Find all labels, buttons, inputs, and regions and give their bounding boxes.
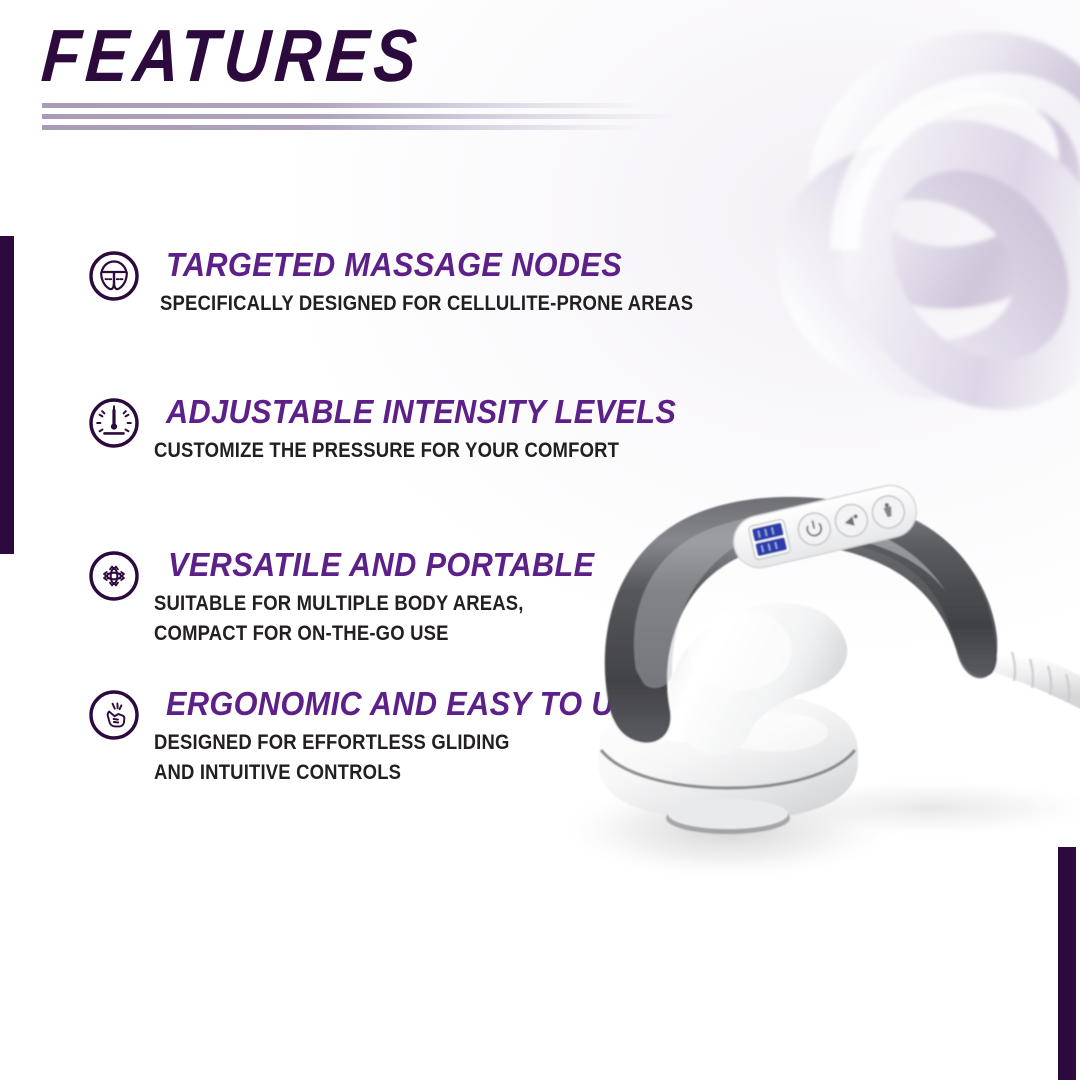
feature-text: ERGONOMIC AND EASY TO USE DESIGNED FOR E…	[160, 685, 692, 788]
feature-item-targeted-massage-nodes: TARGETED MASSAGE NODES SPECIFICALLY DESI…	[88, 246, 728, 319]
features-list: TARGETED MASSAGE NODES SPECIFICALLY DESI…	[88, 246, 728, 788]
features-poster: FEATURES	[0, 0, 1080, 1080]
hand-gesture-icon	[88, 689, 140, 741]
feature-item-ergonomic-and-easy-to-use: ERGONOMIC AND EASY TO USE DESIGNED FOR E…	[88, 685, 728, 788]
page-title: FEATURES	[39, 16, 905, 96]
feature-text: ADJUSTABLE INTENSITY LEVELS CUSTOMIZE TH…	[160, 393, 715, 466]
rule-line-2	[42, 114, 678, 119]
left-accent-bar	[0, 236, 14, 554]
led-display	[752, 522, 784, 541]
feature-heading: VERSATILE AND PORTABLE	[168, 546, 595, 584]
feature-subtitle: SPECIFICALLY DESIGNED FOR CELLULITE-PRON…	[160, 289, 693, 319]
rule-line-1	[42, 103, 642, 108]
feature-heading: ADJUSTABLE INTENSITY LEVELS	[166, 393, 676, 431]
feature-subtitle: SUITABLE FOR MULTIPLE BODY AREAS, COMPAC…	[154, 589, 570, 649]
right-accent-bar	[1058, 847, 1076, 1080]
feature-subtitle: DESIGNED FOR EFFORTLESS GLIDING AND INTU…	[154, 728, 628, 788]
feature-subtitle-line: SUITABLE FOR MULTIPLE BODY AREAS,	[154, 589, 570, 619]
feature-item-adjustable-intensity-levels: ADJUSTABLE INTENSITY LEVELS CUSTOMIZE TH…	[88, 393, 728, 466]
body-target-icon	[88, 250, 140, 302]
multi-direction-arrows-icon	[88, 550, 140, 602]
feature-text: TARGETED MASSAGE NODES SPECIFICALLY DESI…	[160, 246, 766, 319]
rule-line-3	[42, 125, 642, 130]
feature-heading: ERGONOMIC AND EASY TO USE	[166, 685, 656, 723]
feature-subtitle-line: SPECIFICALLY DESIGNED FOR CELLULITE-PRON…	[160, 289, 693, 319]
title-underline-rules	[42, 103, 1042, 130]
header: FEATURES	[42, 16, 1042, 136]
gauge-icon	[88, 397, 140, 449]
feature-item-versatile-and-portable: VERSATILE AND PORTABLE SUITABLE FOR MULT…	[88, 546, 728, 649]
feature-subtitle-line: COMPACT FOR ON-THE-GO USE	[154, 619, 570, 649]
feature-subtitle-line: DESIGNED FOR EFFORTLESS GLIDING	[154, 728, 628, 758]
feature-subtitle: CUSTOMIZE THE PRESSURE FOR YOUR COMFORT	[154, 436, 647, 466]
feature-subtitle-line: AND INTUITIVE CONTROLS	[154, 758, 628, 788]
feature-heading: TARGETED MASSAGE NODES	[166, 246, 724, 284]
feature-subtitle-line: CUSTOMIZE THE PRESSURE FOR YOUR COMFORT	[154, 436, 647, 466]
feature-text: VERSATILE AND PORTABLE SUITABLE FOR MULT…	[160, 546, 627, 649]
